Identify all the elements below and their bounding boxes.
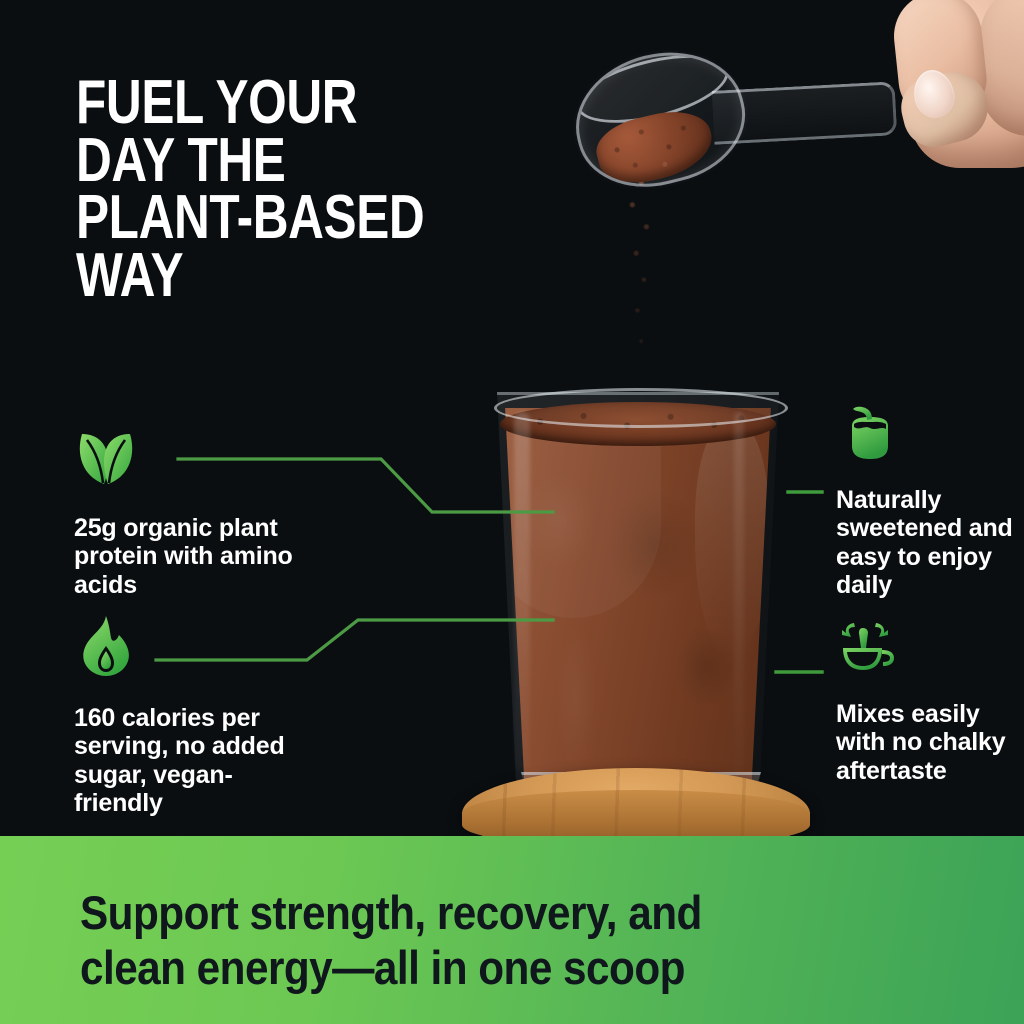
- feature-mixes-text: Mixes easily with no chalky aftertaste: [836, 700, 1016, 785]
- feature-sweet: Naturally sweetened and easy to enjoy da…: [836, 400, 1016, 599]
- feature-sweet-text: Naturally sweetened and easy to enjoy da…: [836, 486, 1016, 599]
- leaf-icon: [74, 424, 138, 488]
- banner-text: Support strength, recovery, and clean en…: [80, 886, 872, 996]
- hand-holding-scoop: [880, 0, 1024, 178]
- mixing-cup-icon: [836, 614, 900, 678]
- feature-calories-text: 160 calories per serving, no added sugar…: [74, 704, 304, 817]
- feature-mixes: Mixes easily with no chalky aftertaste: [836, 614, 1016, 785]
- headline: FUEL YOUR DAY THE PLANT-BASED WAY: [76, 74, 444, 305]
- feature-calories: 160 calories per serving, no added sugar…: [74, 614, 304, 817]
- product-infographic-poster: FUEL YOUR DAY THE PLANT-BASED WAY 25g or…: [0, 0, 1024, 1024]
- protein-shake-glass: [488, 392, 788, 822]
- flame-icon: [74, 614, 138, 678]
- coconut-drink-icon: [838, 400, 902, 464]
- feature-protein-text: 25g organic plant protein with amino aci…: [74, 514, 304, 599]
- measuring-scoop-icon: [575, 32, 915, 182]
- feature-protein: 25g organic plant protein with amino aci…: [74, 424, 304, 599]
